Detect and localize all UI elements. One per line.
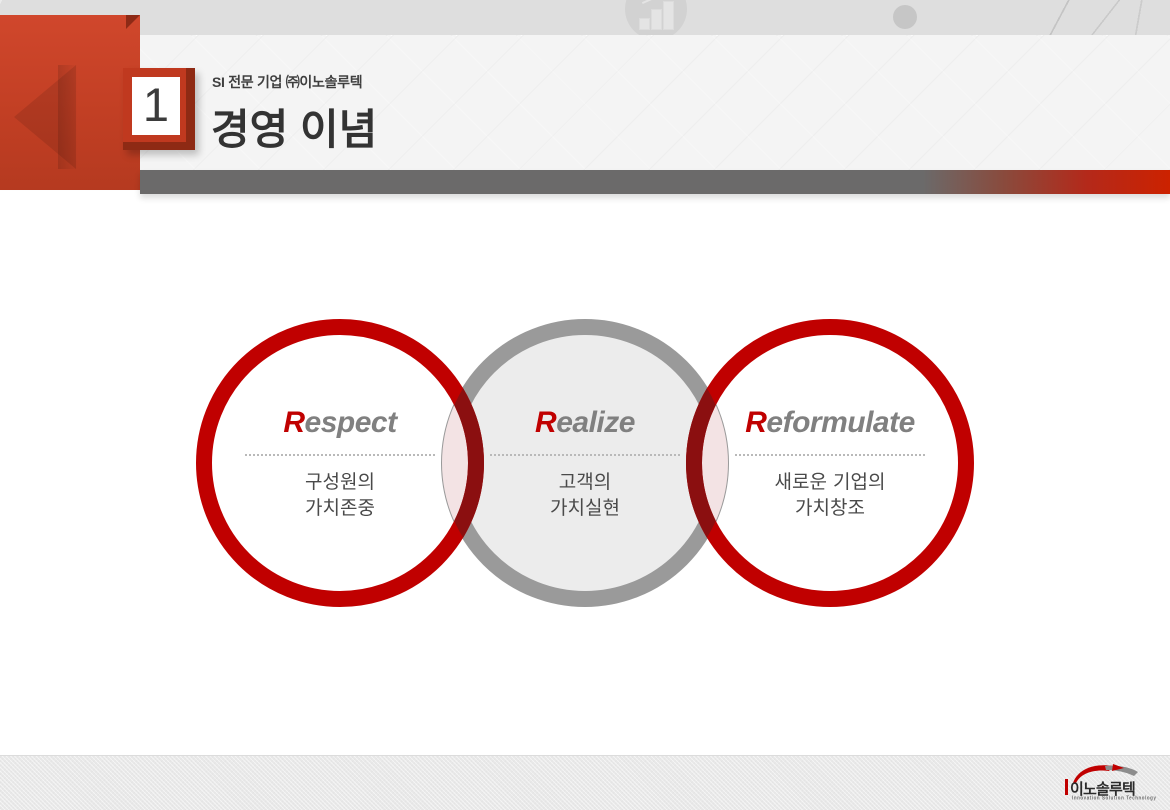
- circle-desc-realize: 고객의 가치실현: [455, 470, 715, 521]
- logo-accent-bar: [1065, 779, 1068, 795]
- circle-word-realize: Realize: [455, 408, 715, 438]
- circle-divider: [245, 454, 435, 456]
- circle-word-cap: R: [535, 406, 556, 439]
- circle-word-reformulate: Reformulate: [700, 408, 960, 438]
- company-logo: 이노솔루텍 Innovation Solution Technology: [1062, 764, 1162, 804]
- circle-text-reformulate: Reformulate 새로운 기업의 가치창조: [700, 408, 960, 521]
- logo-tagline: Innovation Solution Technology: [1072, 795, 1157, 801]
- circle-desc-reformulate: 새로운 기업의 가치창조: [700, 470, 960, 521]
- circle-word-cap: R: [745, 406, 766, 439]
- circle-word-rest: ealize: [556, 406, 635, 439]
- circle-desc-line-2: 가치실현: [455, 496, 715, 522]
- chart-bar-3: [663, 1, 674, 30]
- badge-bevel-bottom: [123, 142, 195, 150]
- footer-band: [0, 755, 1170, 810]
- circle-text-realize: Realize 고객의 가치실현: [455, 408, 715, 521]
- header-red-block: [0, 15, 140, 190]
- header-top-strip: [0, 0, 1170, 35]
- page-title: 경영 이념: [211, 96, 377, 157]
- circle-text-respect: Respect 구성원의 가치존중: [210, 408, 470, 521]
- circle-word-respect: Respect: [210, 408, 470, 438]
- slide-canvas: 1 SI 전문 기업 ㈜이노솔루텍 경영 이념 Res: [0, 0, 1170, 810]
- circle-desc-respect: 구성원의 가치존중: [210, 470, 470, 521]
- dot-icon: [893, 5, 917, 29]
- badge-bevel-right: [186, 68, 195, 150]
- circle-desc-line-2: 가치창조: [700, 496, 960, 522]
- chart-bar-1: [639, 18, 650, 30]
- circle-divider: [735, 454, 925, 456]
- diagonal-lines-icon: [1000, 0, 1170, 35]
- circle-desc-line-1: 고객의: [455, 470, 715, 496]
- header-divider-bar: [140, 170, 1170, 194]
- chart-bar-2: [651, 9, 662, 30]
- circle-word-cap: R: [283, 406, 304, 439]
- header-subtitle: SI 전문 기업 ㈜이노솔루텍: [212, 72, 362, 92]
- circle-word-rest: eformulate: [766, 406, 914, 439]
- circle-desc-line-1: 구성원의: [210, 470, 470, 496]
- footer-top-line: [0, 755, 1170, 756]
- red-block-corner-fold: [126, 15, 140, 29]
- circle-desc-line-1: 새로운 기업의: [700, 470, 960, 496]
- circle-divider: [490, 454, 680, 456]
- circle-word-rest: espect: [305, 406, 397, 439]
- section-number-badge: 1: [123, 68, 195, 150]
- section-number: 1: [132, 77, 180, 135]
- circle-desc-line-2: 가치존중: [210, 496, 470, 522]
- back-arrow-shadow: [58, 65, 78, 169]
